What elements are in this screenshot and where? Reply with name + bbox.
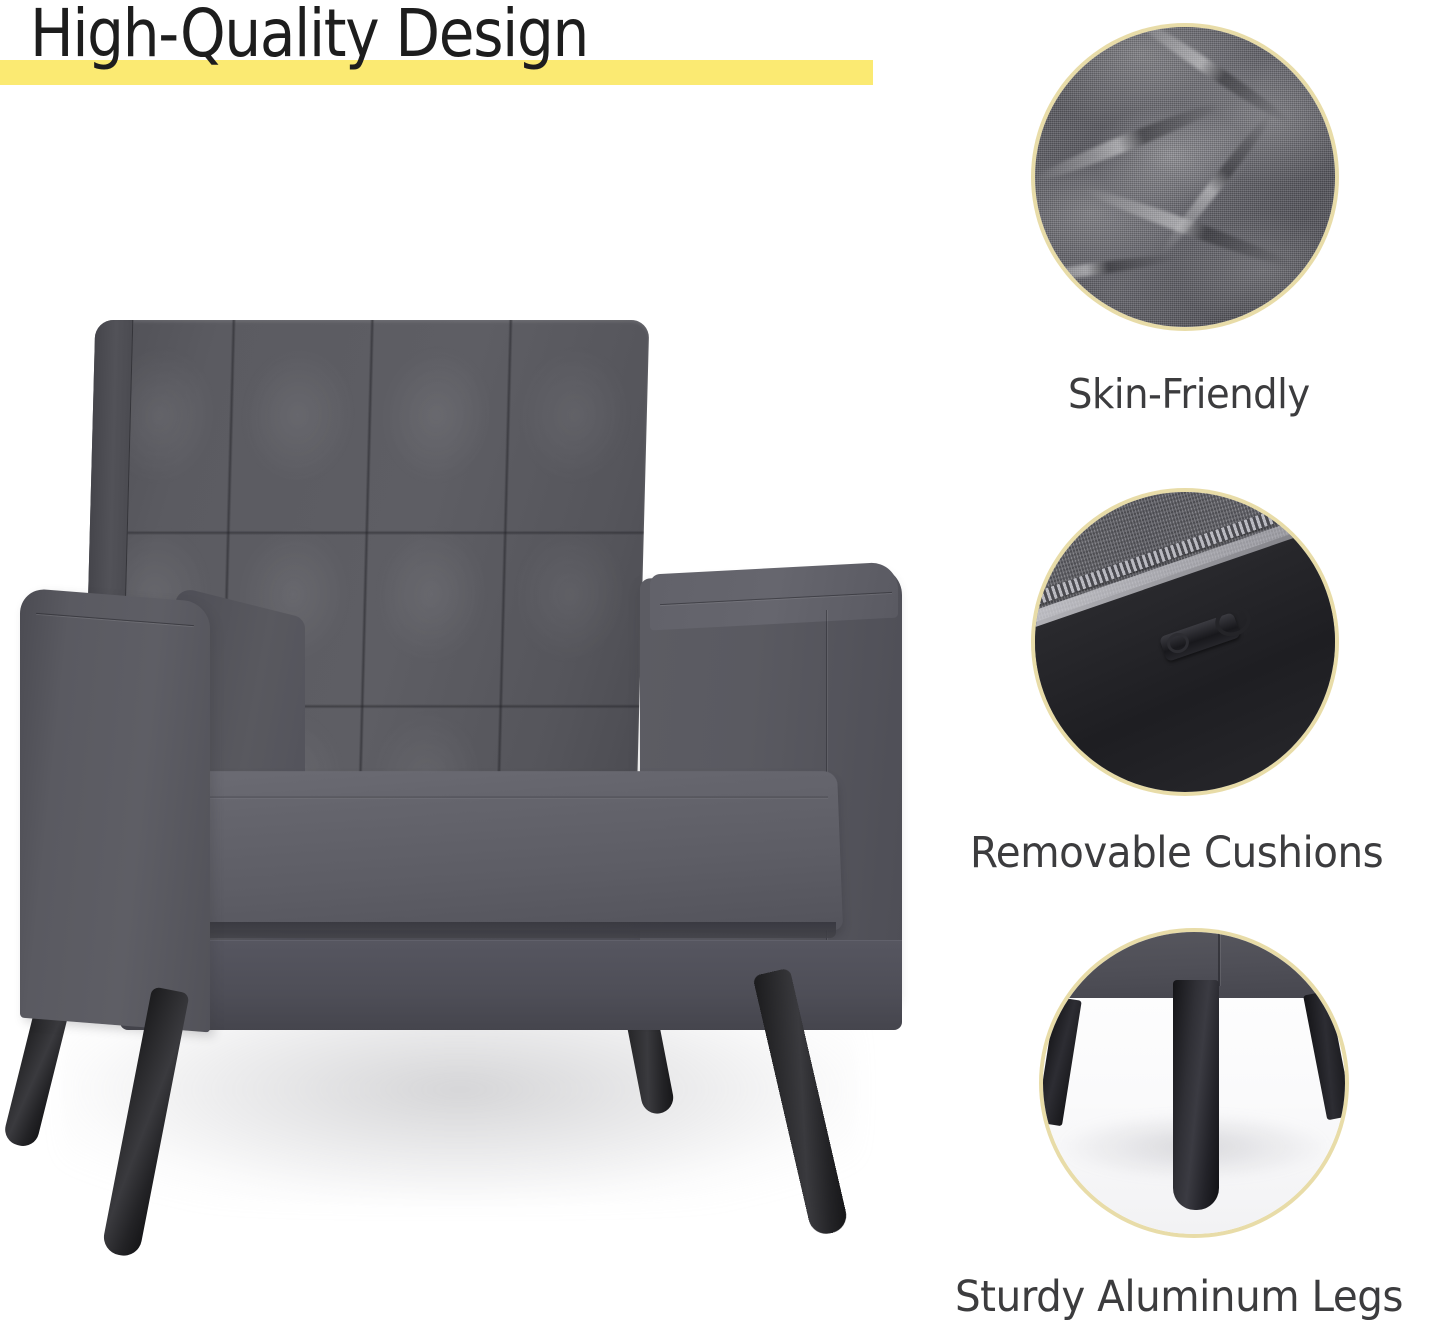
- chair-arm-left: [20, 588, 210, 1033]
- fabric-weave-closeup-image: [1035, 27, 1335, 327]
- leg-closeup-side-leg-left: [1043, 997, 1082, 1126]
- callout-label-sturdy-aluminum-legs: Sturdy Aluminum Legs: [955, 1272, 1403, 1322]
- seat-cushion-gap-shadow: [196, 922, 836, 938]
- product-feature-graphic: High-Quality Design: [0, 0, 1445, 1326]
- leg-closeup-side-leg-right: [1303, 991, 1345, 1120]
- chair-seat-cushion: [187, 771, 843, 930]
- page-title: High-Quality Design: [30, 0, 588, 72]
- chair-leg-closeup-image: [1043, 932, 1345, 1234]
- product-photo-armchair: [0, 250, 950, 1310]
- leg-closeup-base-seam: [1218, 932, 1220, 986]
- zipper-closeup-image: [1035, 492, 1335, 792]
- headline-block: High-Quality Design: [0, 0, 900, 100]
- callout-label-removable-cushions: Removable Cushions: [970, 828, 1383, 878]
- seat-cushion-seam: [202, 797, 828, 798]
- chair-arm-left-seam: [36, 613, 194, 626]
- leg-closeup-center-leg: [1173, 980, 1219, 1210]
- fabric-weave-texture: [1035, 27, 1335, 327]
- fabric-fold-art: [1035, 27, 1335, 327]
- callout-label-skin-friendly: Skin-Friendly: [1068, 370, 1310, 418]
